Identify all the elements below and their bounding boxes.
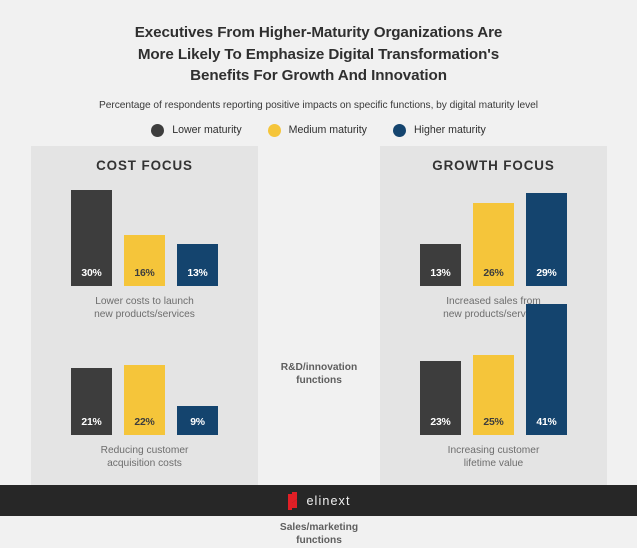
legend-swatch-icon [151,124,164,137]
bar-group-caption: Lower costs to launch new products/servi… [31,295,258,322]
bar-value-label: 23% [430,417,450,435]
row-label-line-1: R&D/innovation [258,361,380,374]
bar-value-label: 13% [187,268,207,286]
panel-growth-focus: GROWTH FOCUS 13% 26% 29% Increased sales… [380,146,607,485]
chart-panels: COST FOCUS 30% 16% 13% Lower costs to la… [0,146,637,485]
bar-group: 23% 25% 41% [380,331,607,435]
bar-value-label: 41% [536,417,556,435]
caption-line-2: new products/services [380,308,607,321]
bar-value-label: 26% [483,268,503,286]
chart-group-cost-sales: 21% 22% 9% Reducing customer acquisition… [31,331,258,471]
legend-swatch-icon [393,124,406,137]
chart-group-cost-rd: 30% 16% 13% Lower costs to launch new pr… [31,182,258,322]
bar-group-caption: Increased sales from new products/servic… [380,295,607,322]
bar-value-label: 22% [134,417,154,435]
chart-group-growth-rd: 13% 26% 29% Increased sales from new pro… [380,182,607,322]
caption-line-1: Increasing customer [380,444,607,457]
bar-lower: 30% [71,190,112,286]
title-line-1: Executives From Higher-Maturity Organiza… [74,22,564,44]
footer-bar: elinext [0,485,637,516]
legend-item-lower: Lower maturity [151,124,241,137]
row-label-sales-marketing: Sales/marketing functions [258,521,380,548]
row-label-line-2: functions [258,534,380,547]
bar-medium: 22% [124,365,165,435]
bar-lower: 13% [420,244,461,286]
legend-label: Lower maturity [172,124,241,136]
bar-group: 30% 16% 13% [31,182,258,286]
legend-swatch-icon [268,124,281,137]
caption-line-2: lifetime value [380,457,607,470]
chart-header: Executives From Higher-Maturity Organiza… [0,0,637,137]
bar-value-label: 21% [81,417,101,435]
elinext-logo-text: elinext [306,494,350,508]
caption-line-1: Lower costs to launch [31,295,258,308]
bar-higher: 41% [526,304,567,435]
row-label-rd-innovation: R&D/innovation functions [258,361,380,388]
panel-heading-growth: GROWTH FOCUS [380,146,607,173]
bar-higher: 13% [177,244,218,286]
legend-label: Medium maturity [289,124,367,136]
chart-group-growth-sales: 23% 25% 41% Increasing customer lifetime… [380,331,607,471]
row-label-line-2: functions [258,374,380,387]
legend-label: Higher maturity [414,124,486,136]
caption-line-1: Increased sales from [380,295,607,308]
bar-value-label: 30% [81,268,101,286]
legend-item-medium: Medium maturity [268,124,367,137]
bar-medium: 26% [473,203,514,286]
caption-line-1: Reducing customer [31,444,258,457]
bar-lower: 21% [71,368,112,435]
bar-lower: 23% [420,361,461,435]
bar-value-label: 25% [483,417,503,435]
bar-group-caption: Increasing customer lifetime value [380,444,607,471]
title-line-2: More Likely To Emphasize Digital Transfo… [74,44,564,66]
caption-line-2: new products/services [31,308,258,321]
bar-group-caption: Reducing customer acquisition costs [31,444,258,471]
bar-higher: 9% [177,406,218,435]
panel-cost-focus: COST FOCUS 30% 16% 13% Lower costs to la… [31,146,258,485]
row-label-line-1: Sales/marketing [258,521,380,534]
panel-heading-cost: COST FOCUS [31,146,258,173]
legend-item-higher: Higher maturity [393,124,486,137]
bar-group: 13% 26% 29% [380,182,607,286]
page-title: Executives From Higher-Maturity Organiza… [74,22,564,87]
title-line-3: Benefits For Growth And Innovation [74,65,564,87]
chart-subtitle: Percentage of respondents reporting posi… [0,100,637,111]
bar-medium: 16% [124,235,165,286]
caption-line-2: acquisition costs [31,457,258,470]
bar-group: 21% 22% 9% [31,331,258,435]
chart-legend: Lower maturity Medium maturity Higher ma… [0,124,637,137]
bar-value-label: 16% [134,268,154,286]
bar-value-label: 13% [430,268,450,286]
bar-value-label: 29% [536,268,556,286]
elinext-logo-icon [286,492,299,510]
bar-value-label: 9% [190,417,205,435]
bar-medium: 25% [473,355,514,435]
bar-higher: 29% [526,193,567,286]
